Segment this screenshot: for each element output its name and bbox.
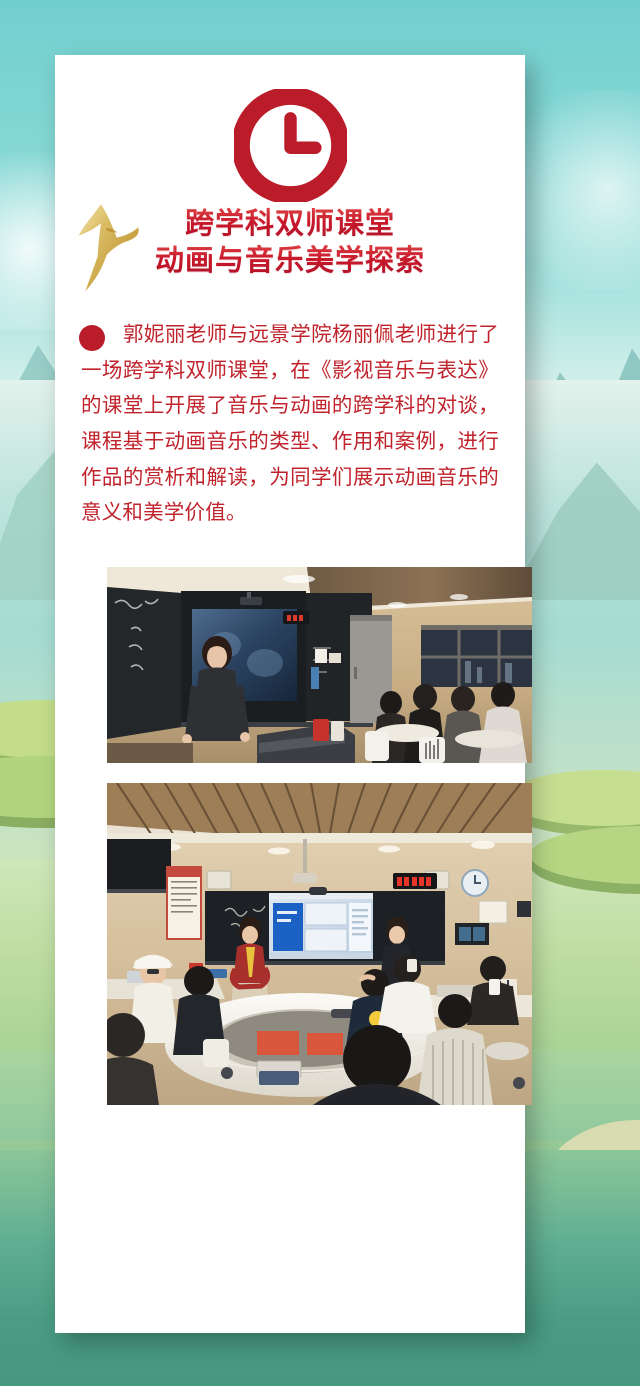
intro-paragraph-block: 郭妮丽老师与远景学院杨丽佩老师进行了一场跨学科双师课堂，在《影视音乐与表达》的课… [81,317,499,531]
classroom-photo-teacher-at-smartboard [107,567,532,763]
title-row: 跨学科双师课堂 动画与音乐美学探索 [55,206,525,279]
gold-brush-stroke-seal-icon [71,196,146,292]
classroom-photo-two-teachers-wide [107,783,532,1105]
red-dot-bullet-icon [79,325,105,351]
clock-icon [234,89,347,202]
header-icon-row [55,89,525,202]
intro-paragraph-text: 郭妮丽老师与远景学院杨丽佩老师进行了一场跨学科双师课堂，在《影视音乐与表达》的课… [81,317,499,531]
article-card: 跨学科双师课堂 动画与音乐美学探索 郭妮丽老师与远景学院杨丽佩老师进行了一场跨学… [55,55,525,1333]
